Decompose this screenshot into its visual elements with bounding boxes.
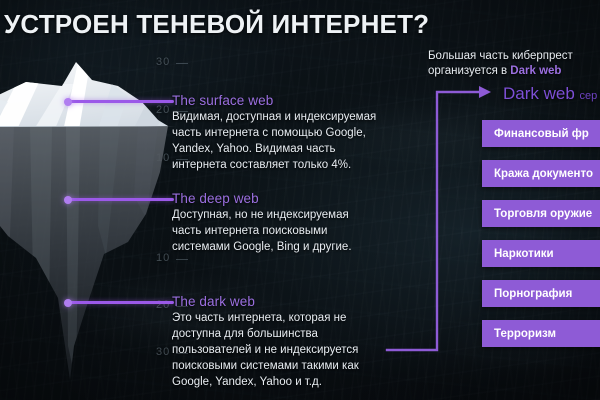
services-heading-suffix: сер — [580, 90, 598, 102]
dark-web-services-list: Финансовый фр Кража документо Торговля о… — [482, 120, 600, 360]
services-heading-main: Dark web — [503, 84, 575, 103]
page-title: УСТРОЕН ТЕНЕВОЙ ИНТЕРНЕТ? — [4, 9, 429, 40]
badge-label: Наркотики — [494, 248, 554, 260]
leader-dot — [64, 299, 72, 307]
leader-bar — [70, 100, 174, 103]
service-badge-drugs[interactable]: Наркотики — [482, 240, 600, 267]
layer-heading: The deep web — [172, 191, 384, 206]
service-badge-weapons-trade[interactable]: Торговля оружие — [482, 200, 600, 227]
service-badge-document-theft[interactable]: Кража документо — [482, 160, 600, 187]
bracket-arrow-to-services — [375, 78, 495, 378]
badge-label: Порнография — [494, 288, 572, 300]
intro-line-1: Большая часть киберпрест — [428, 50, 573, 62]
iceberg-above-water — [0, 46, 200, 136]
intro-highlight: Dark web — [510, 65, 561, 77]
badge-label: Финансовый фр — [494, 128, 589, 140]
layer-heading: The surface web — [172, 93, 384, 108]
leader-bar — [70, 301, 174, 304]
right-panel-intro: Большая часть киберпрест организуется в … — [428, 49, 600, 79]
iceberg-illustration — [0, 46, 200, 391]
iceberg-below-water — [0, 124, 200, 391]
leader-line-surface-web — [64, 100, 174, 103]
badge-label: Терроризм — [494, 328, 556, 340]
layer-body: Видимая, доступная и индексируемая часть… — [172, 109, 384, 173]
leader-line-dark-web — [64, 301, 174, 304]
layer-block-dark-web: The dark web Это часть интернета, котора… — [172, 294, 384, 390]
layer-heading: The dark web — [172, 294, 384, 309]
dark-web-services-heading: Dark web сер — [503, 84, 597, 104]
layer-block-deep-web: The deep web Доступная, но не индексируе… — [172, 191, 384, 255]
waterline — [0, 126, 176, 127]
infographic-canvas: 30 20 10 10 20 30 — [0, 0, 600, 400]
leader-dot — [64, 196, 72, 204]
badge-label: Кража документо — [494, 168, 593, 180]
layer-body: Это часть интернета, которая не доступна… — [172, 310, 384, 390]
badge-label: Торговля оружие — [494, 208, 592, 220]
service-badge-terrorism[interactable]: Терроризм — [482, 320, 600, 347]
service-badge-financial-fraud[interactable]: Финансовый фр — [482, 120, 600, 147]
layer-block-surface-web: The surface web Видимая, доступная и инд… — [172, 93, 384, 173]
intro-line-2: организуется в — [428, 65, 510, 77]
leader-bar — [70, 198, 174, 201]
layer-body: Доступная, но не индексируемая часть инт… — [172, 207, 384, 255]
service-badge-pornography[interactable]: Порнография — [482, 280, 600, 307]
leader-line-deep-web — [64, 198, 174, 201]
leader-dot — [64, 98, 72, 106]
